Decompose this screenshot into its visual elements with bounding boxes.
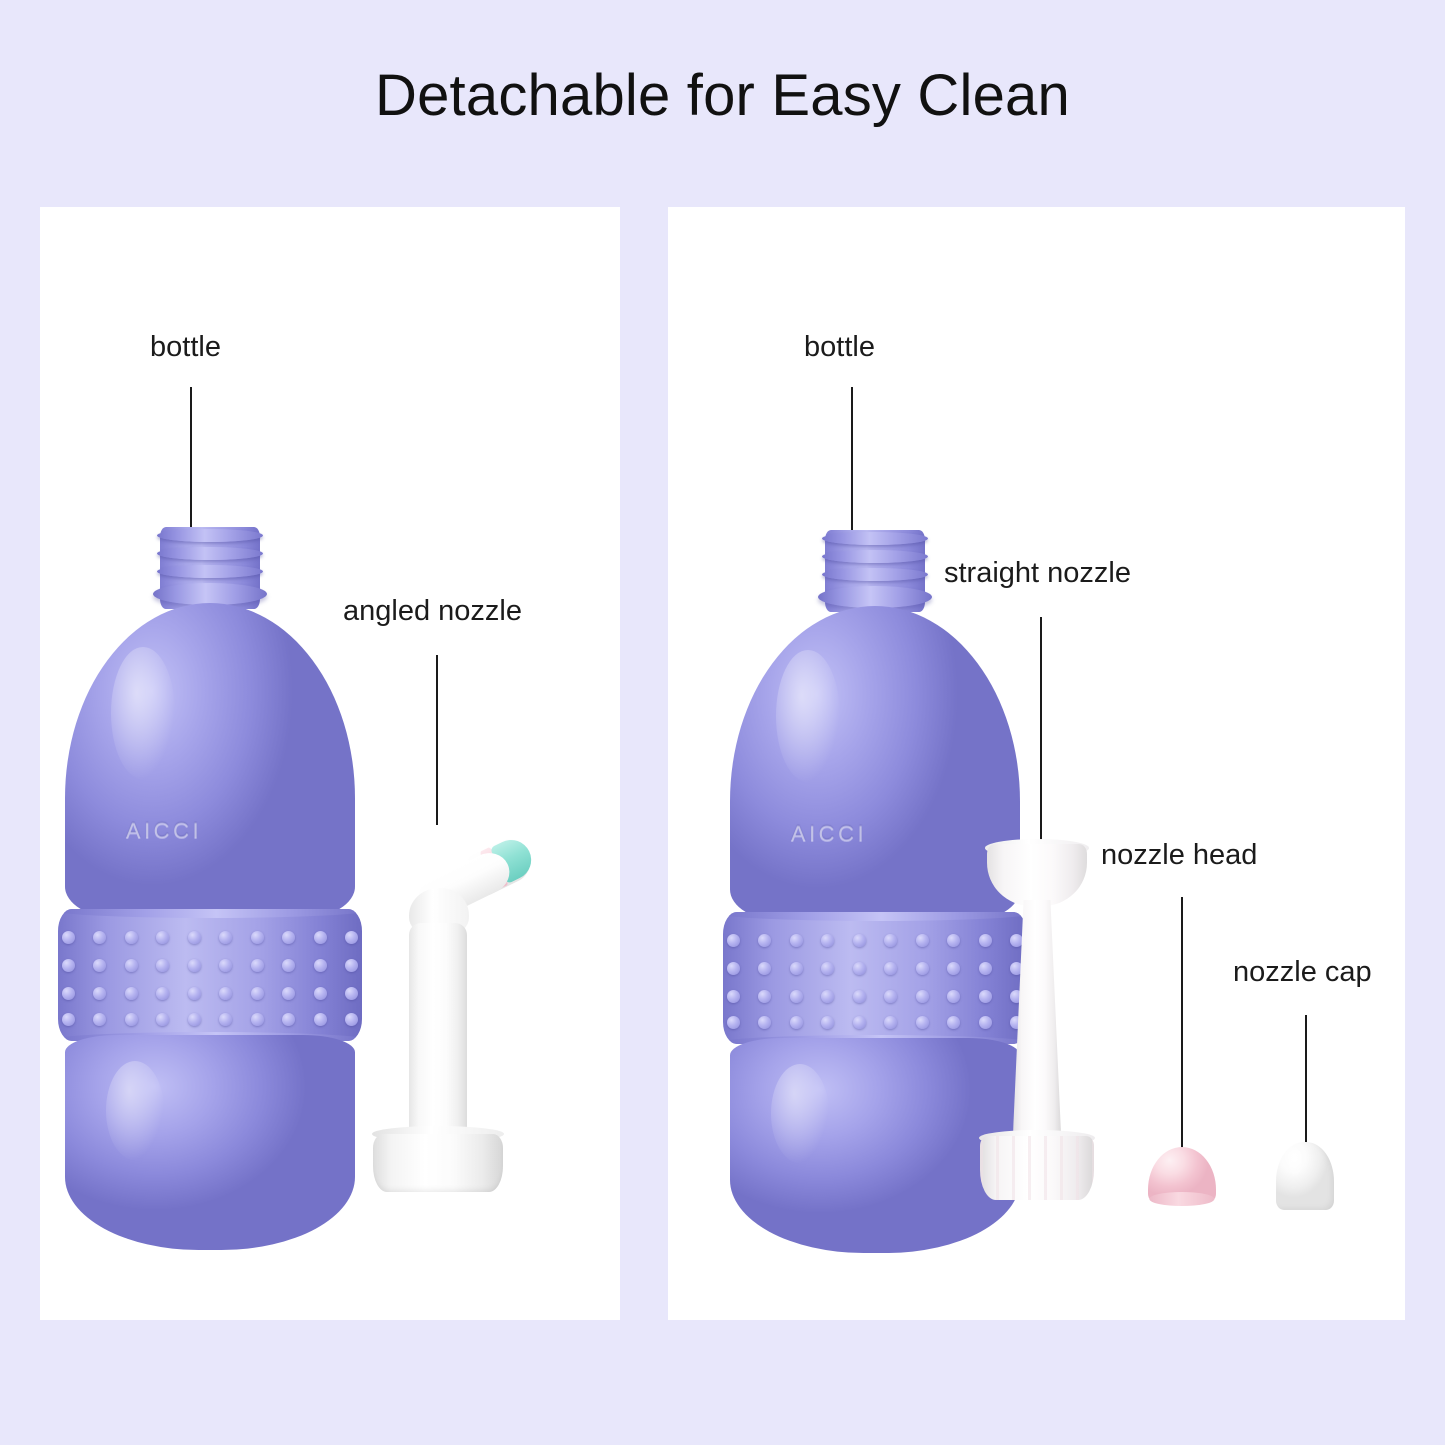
bottle-neck-left (160, 527, 260, 609)
grip-dot (156, 987, 169, 1000)
grip-dot (125, 1013, 138, 1026)
grip-dot (790, 990, 803, 1003)
neck-collar (153, 583, 267, 605)
grip-dot (727, 962, 740, 975)
straight-nozzle-stem (1013, 900, 1061, 1132)
brand-emboss-left: AICCI (126, 818, 202, 844)
label-nozzle-cap: nozzle cap (1233, 958, 1372, 987)
grip-dot (219, 1013, 232, 1026)
grip-dot (916, 934, 929, 947)
grip-dot (821, 1016, 834, 1029)
grip-dot (345, 931, 358, 944)
grip-dot (727, 934, 740, 947)
grip-dot (790, 934, 803, 947)
grip-dot (93, 931, 106, 944)
grip-dot (282, 931, 295, 944)
bottle-grip-band-left (58, 909, 363, 1041)
grip-dot (345, 987, 358, 1000)
grip-dot (62, 987, 75, 1000)
grip-dot (156, 959, 169, 972)
grip-dot (62, 931, 75, 944)
neck-thread (822, 550, 928, 563)
leader-line-nozzle-cap (1305, 1015, 1307, 1148)
bottle-shoulder-left: AICCI (65, 603, 355, 918)
grip-dot (916, 962, 929, 975)
grip-dot (188, 1013, 201, 1026)
grip-dot (93, 1013, 106, 1026)
grip-dot (251, 987, 264, 1000)
grip-dot (758, 990, 771, 1003)
label-angled-nozzle: angled nozzle (343, 597, 522, 626)
grip-dot (727, 990, 740, 1003)
panel-straight-nozzle-configuration: bottle straight nozzle nozzle head nozzl… (668, 207, 1405, 1320)
neck-thread (157, 565, 263, 578)
page-title: Detachable for Easy Clean (0, 62, 1445, 129)
grip-top-lip (58, 909, 363, 918)
nozzle-cap-part (1276, 1142, 1334, 1210)
grip-dot (727, 1016, 740, 1029)
grip-dot-row (58, 931, 363, 944)
grip-dot (188, 959, 201, 972)
grip-dot (790, 962, 803, 975)
grip-dot (188, 931, 201, 944)
leader-line-bottle-left (190, 387, 192, 527)
grip-dot (125, 987, 138, 1000)
grip-dot (62, 1013, 75, 1026)
grip-dot (125, 931, 138, 944)
angled-nozzle-base (373, 1134, 503, 1192)
grip-dot (916, 1016, 929, 1029)
grip-dot (314, 1013, 327, 1026)
grip-dot (314, 931, 327, 944)
grip-dot (219, 931, 232, 944)
straight-nozzle-part (980, 844, 1094, 1200)
leader-line-straight-nozzle (1040, 617, 1042, 847)
grip-dot (251, 959, 264, 972)
grip-dot (314, 987, 327, 1000)
grip-dot (821, 934, 834, 947)
grip-dot (282, 1013, 295, 1026)
grip-dot (219, 987, 232, 1000)
grip-dot (853, 990, 866, 1003)
grip-dot (282, 959, 295, 972)
grip-dot (345, 1013, 358, 1026)
bottle-base-left (65, 1035, 355, 1250)
grip-dot (251, 1013, 264, 1026)
grip-dot (62, 959, 75, 972)
grip-dot (947, 962, 960, 975)
bottle-shoulder-right: AICCI (730, 606, 1020, 921)
grip-dot (947, 1016, 960, 1029)
bottle-right: AICCI (730, 530, 1020, 1200)
neck-thread (822, 568, 928, 581)
leader-line-nozzle-head (1181, 897, 1183, 1150)
straight-nozzle-cup (987, 844, 1087, 906)
neck-collar (818, 586, 932, 608)
neck-thread (822, 532, 928, 545)
grip-dot (821, 990, 834, 1003)
grip-dot (125, 959, 138, 972)
brand-emboss-right: AICCI (791, 821, 867, 847)
grip-dot (156, 931, 169, 944)
grip-dot (282, 987, 295, 1000)
grip-dot (758, 934, 771, 947)
label-bottle-left: bottle (150, 333, 221, 362)
bottle-left: AICCI (65, 527, 355, 1197)
grip-dot (853, 962, 866, 975)
bottle-base-right (730, 1038, 1020, 1253)
infographic-canvas: Detachable for Easy Clean bottle angled … (0, 0, 1445, 1445)
grip-dot-row (58, 1013, 363, 1026)
grip-dot (884, 990, 897, 1003)
grip-dot (884, 934, 897, 947)
grip-dot (345, 959, 358, 972)
label-bottle-right: bottle (804, 333, 875, 362)
angled-nozzle-part (373, 817, 503, 1192)
grip-dot (219, 959, 232, 972)
panel-angled-nozzle-configuration: bottle angled nozzle AICCI (40, 207, 620, 1320)
grip-dot (251, 931, 264, 944)
leader-line-bottle-right (851, 387, 853, 530)
grip-dot (790, 1016, 803, 1029)
bottle-neck-right (825, 530, 925, 612)
grip-dot (916, 990, 929, 1003)
angled-nozzle-stem (409, 923, 466, 1138)
grip-dot-row (58, 959, 363, 972)
grip-dot (758, 1016, 771, 1029)
neck-thread (157, 529, 263, 542)
nozzle-head-part (1148, 1147, 1216, 1203)
grip-dot (884, 962, 897, 975)
grip-dot (884, 1016, 897, 1029)
grip-dot (947, 990, 960, 1003)
grip-dot (947, 934, 960, 947)
leader-line-angled-nozzle (436, 655, 438, 825)
grip-dot (821, 962, 834, 975)
straight-nozzle-foot (980, 1136, 1094, 1200)
grip-dot (93, 987, 106, 1000)
grip-dot (758, 962, 771, 975)
grip-dot (853, 1016, 866, 1029)
grip-dot (93, 959, 106, 972)
grip-dot-row (58, 987, 363, 1000)
grip-dot (853, 934, 866, 947)
grip-dot (156, 1013, 169, 1026)
grip-dot (188, 987, 201, 1000)
neck-thread (157, 547, 263, 560)
label-nozzle-head: nozzle head (1101, 841, 1257, 870)
grip-dot (314, 959, 327, 972)
